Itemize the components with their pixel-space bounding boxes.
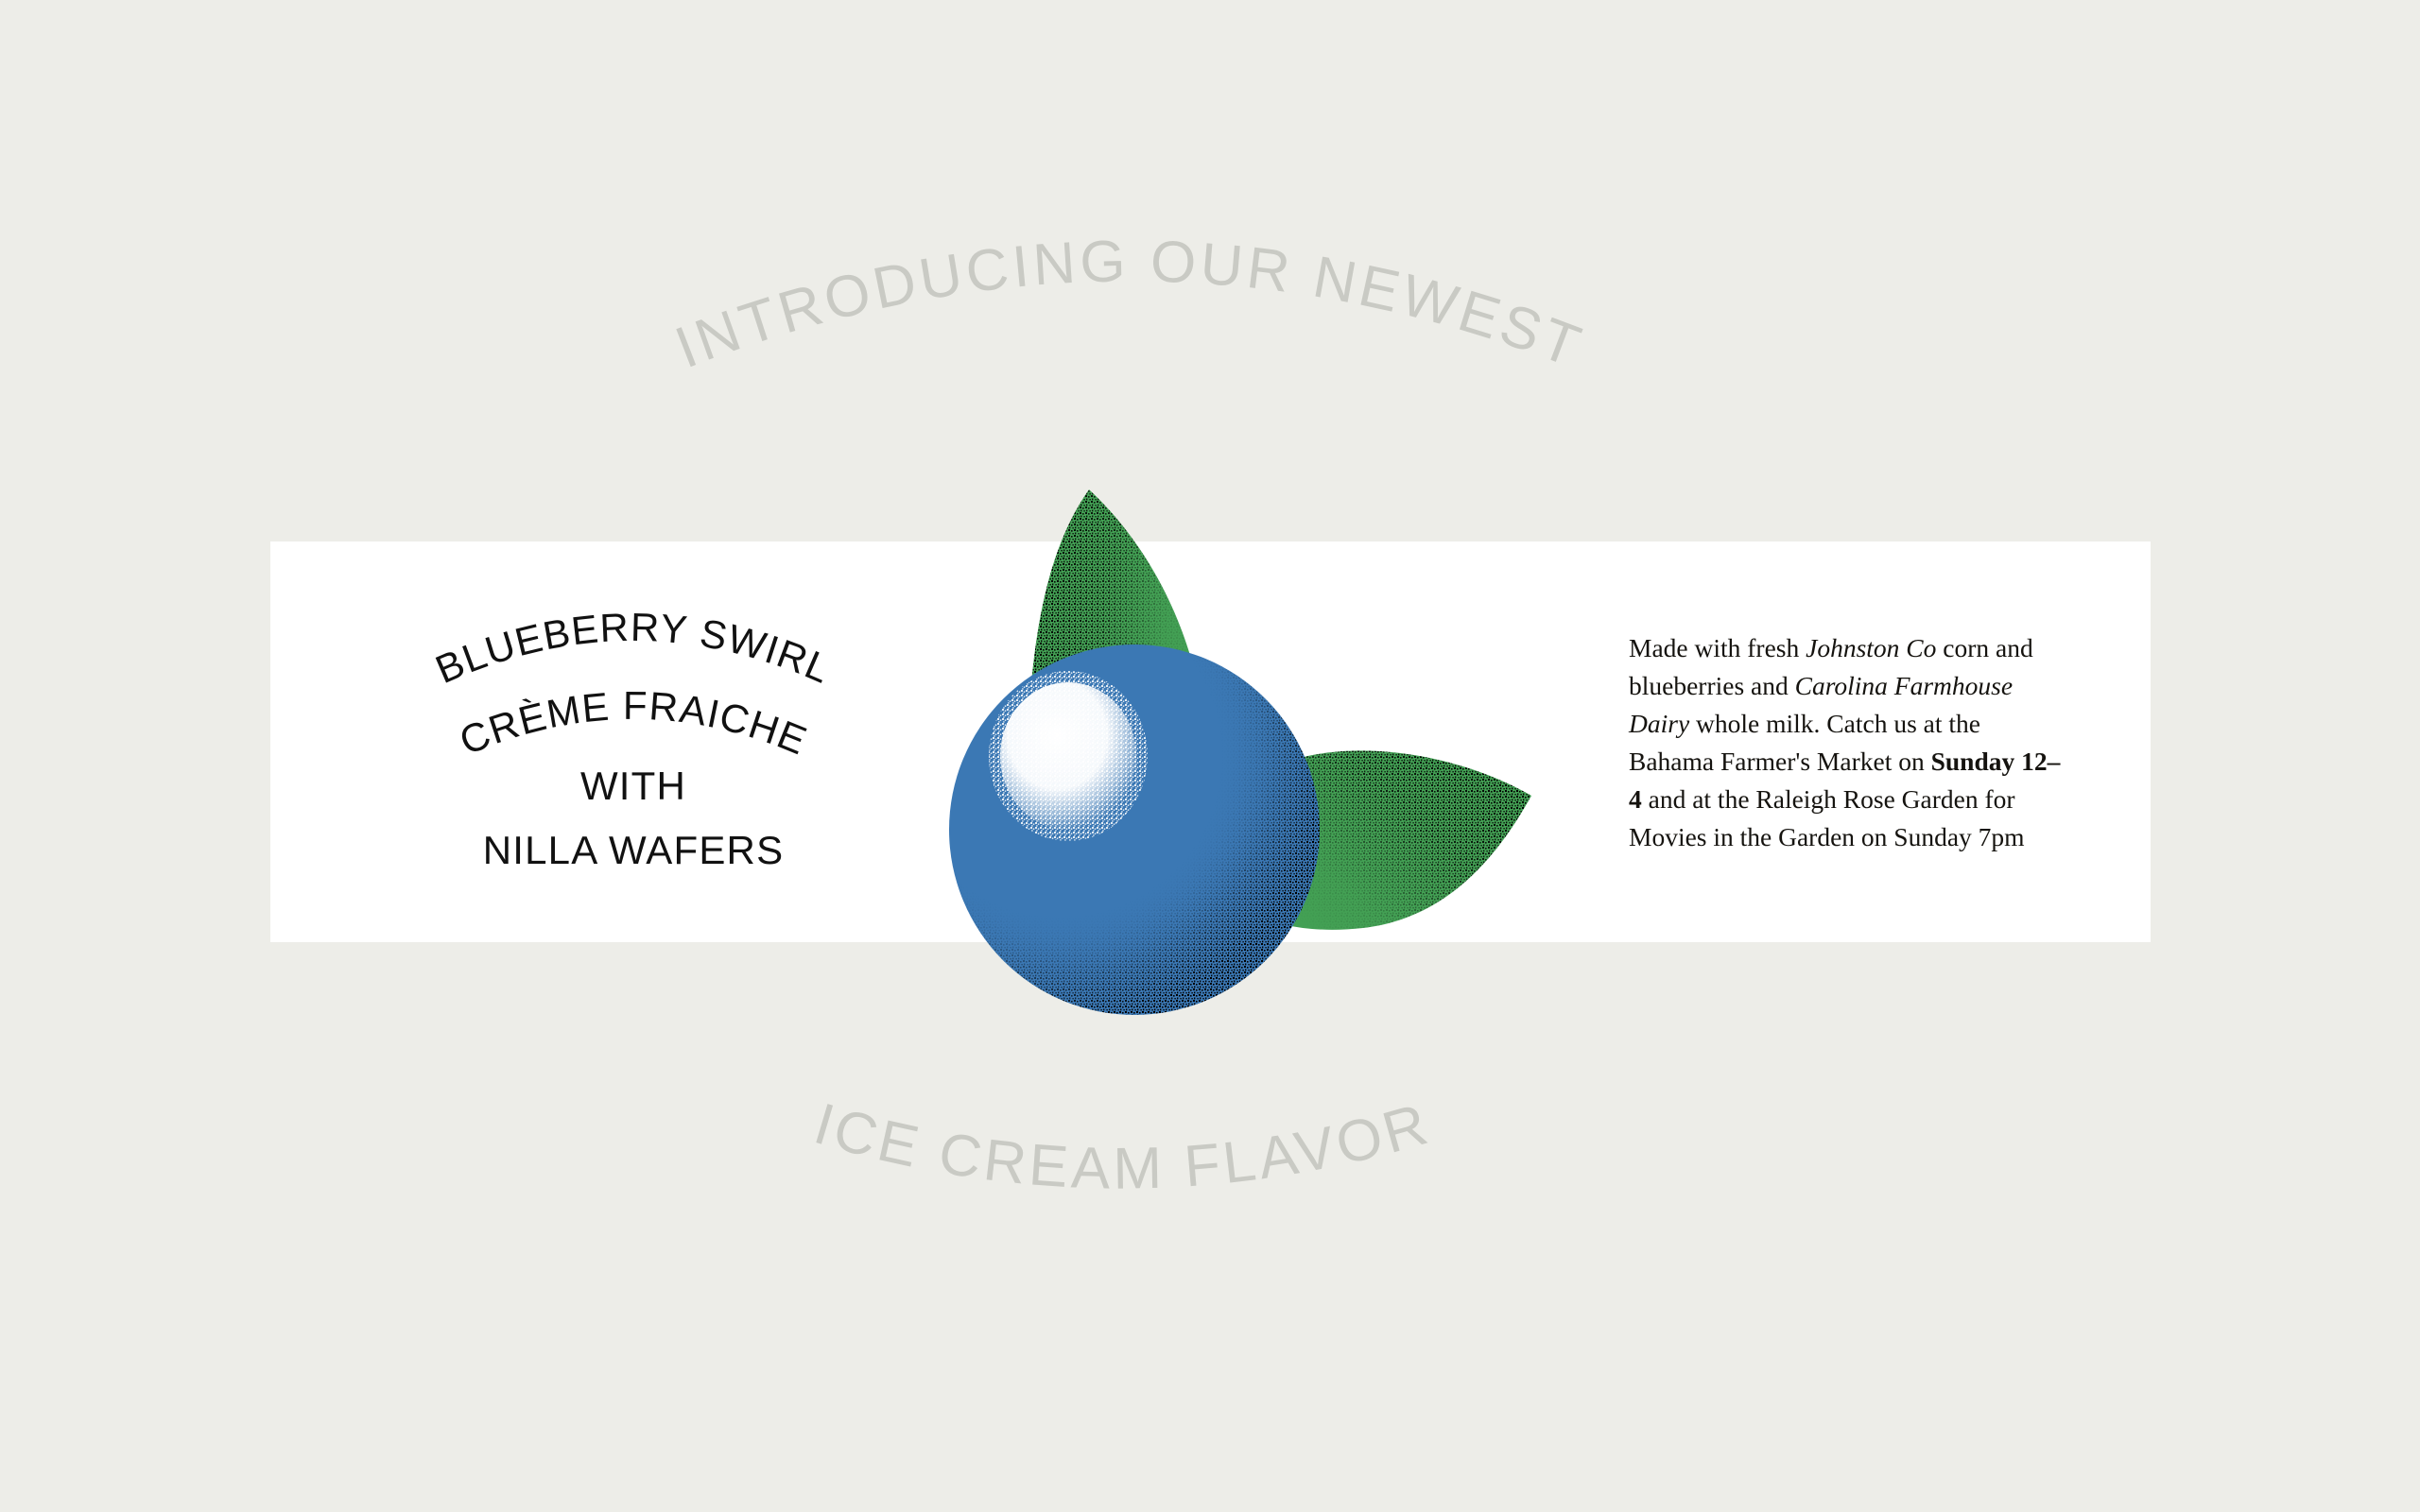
flavor-line-2: CRÈME FRAICHE bbox=[454, 683, 814, 764]
berry-highlight-grain bbox=[989, 671, 1148, 841]
body-copy-segment-1: Johnston Co bbox=[1806, 633, 1936, 662]
blueberry-illustration bbox=[926, 472, 1569, 1039]
flavor-line-3: WITH bbox=[378, 764, 889, 809]
bottom-arc-headline: ICE CREAM FLAVOR bbox=[807, 1091, 1438, 1201]
poster-canvas: INTRODUCING OUR NEWEST ICE CREAM FLAVOR bbox=[0, 0, 2420, 1512]
flavor-line-1: BLUEBERRY SWIRL bbox=[429, 605, 838, 692]
body-copy-segment-6: and at the Raleigh Rose Garden for Movie… bbox=[1629, 784, 2025, 851]
body-copy: Made with fresh Johnston Co corn and blu… bbox=[1629, 629, 2064, 856]
flavor-line-4: NILLA WAFERS bbox=[378, 828, 889, 873]
top-arc-headline: INTRODUCING OUR NEWEST bbox=[667, 229, 1592, 381]
bottom-arc-headline-text: ICE CREAM FLAVOR bbox=[807, 1091, 1438, 1201]
blueberry-icon bbox=[926, 472, 1569, 1039]
flavor-name-lockup: BLUEBERRY SWIRL CRÈME FRAICHE WITH NILLA… bbox=[378, 595, 889, 898]
flavor-line-2-text: CRÈME FRAICHE bbox=[454, 683, 814, 764]
body-copy-segment-0: Made with fresh bbox=[1629, 633, 1806, 662]
flavor-arc-layer: BLUEBERRY SWIRL CRÈME FRAICHE bbox=[378, 595, 889, 784]
flavor-line-1-text: BLUEBERRY SWIRL bbox=[429, 605, 838, 692]
top-arc-headline-text: INTRODUCING OUR NEWEST bbox=[667, 229, 1592, 381]
